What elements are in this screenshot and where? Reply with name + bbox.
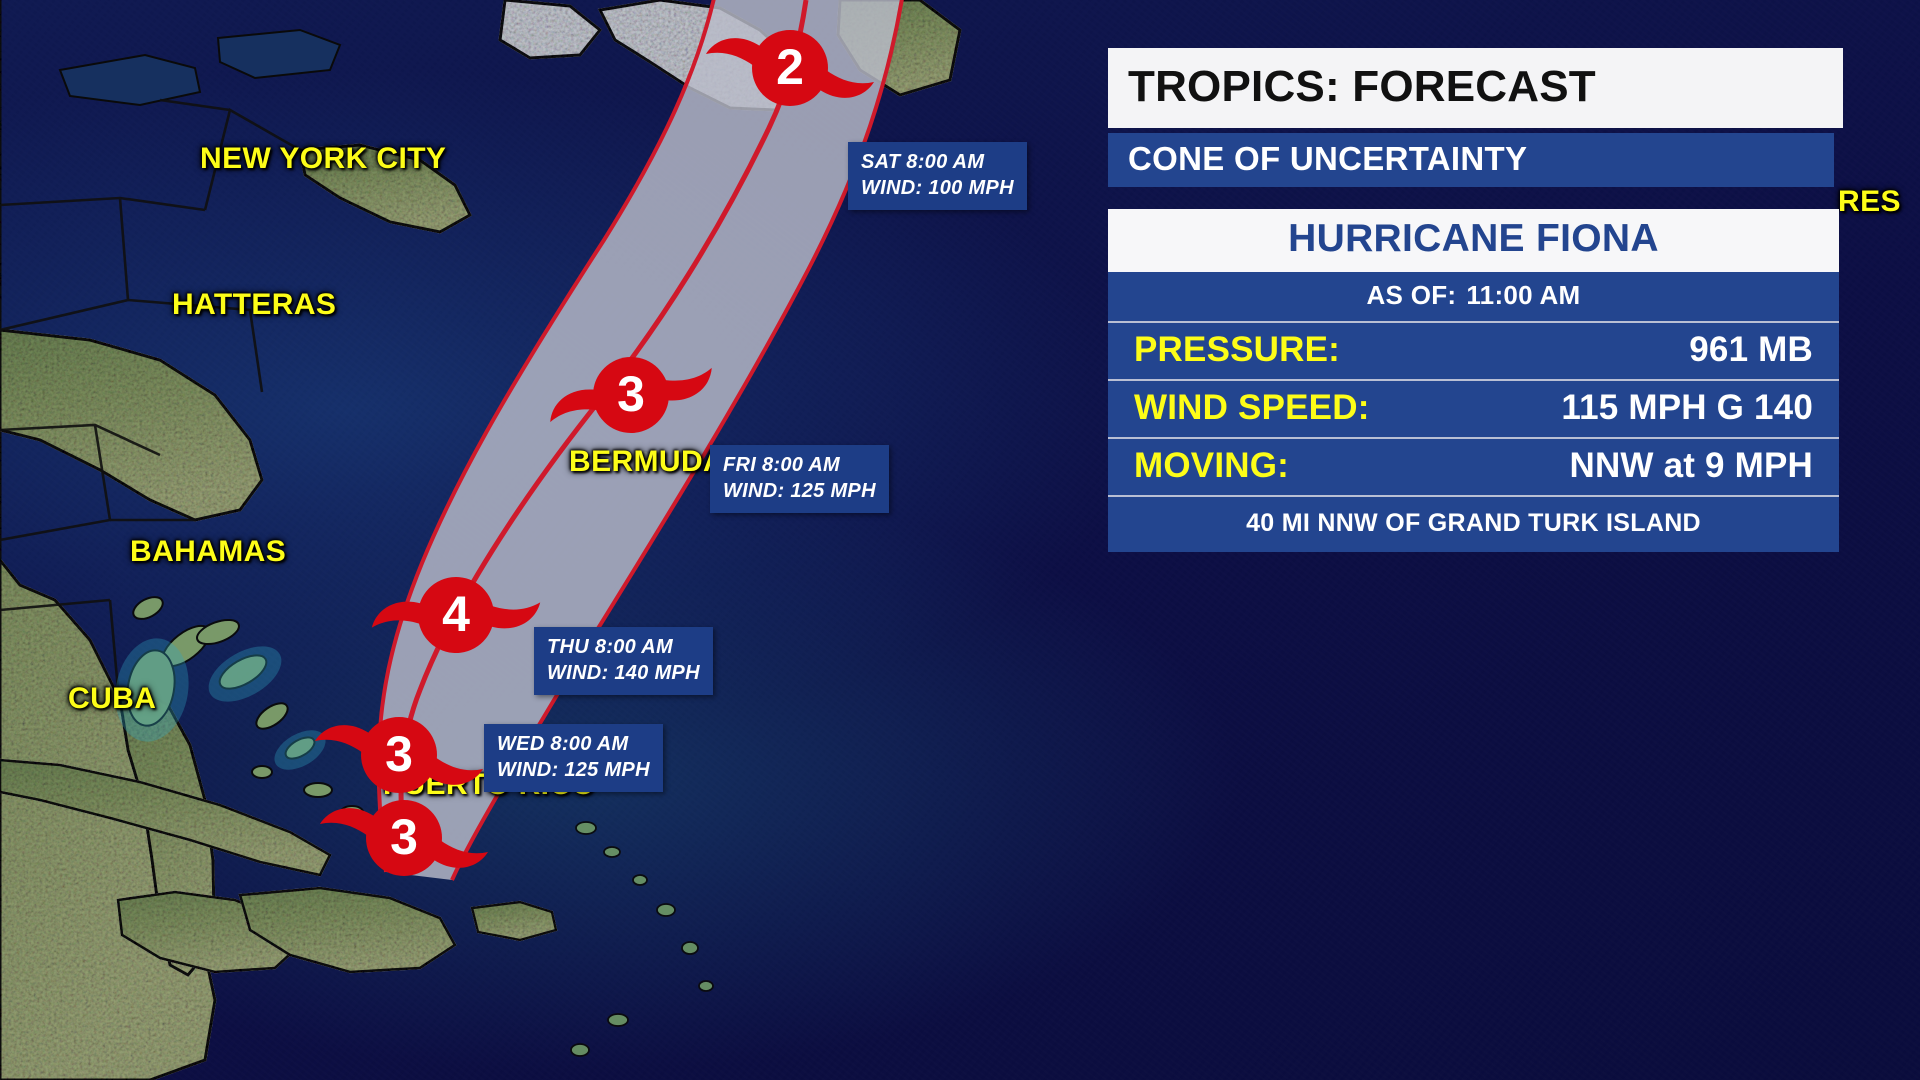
callout-thu: THU 8:00 AM WIND: 140 MPH xyxy=(534,627,713,695)
wind-speed-row: WIND SPEED: 115 MPH G 140 xyxy=(1108,379,1839,437)
callout-fri: FRI 8:00 AM WIND: 125 MPH xyxy=(710,445,889,513)
storm-name: HURRICANE FIONA xyxy=(1108,209,1839,272)
marker-cat3-fri-label: 3 xyxy=(617,366,645,422)
callout-sat-wind: WIND: 100 MPH xyxy=(861,175,1014,201)
callout-wed-wind: WIND: 125 MPH xyxy=(497,757,650,783)
callout-fri-wind: WIND: 125 MPH xyxy=(723,478,876,504)
marker-cat3-now-label: 3 xyxy=(390,809,418,865)
marker-cat3-fri: 3 xyxy=(539,322,723,468)
pressure-row: PRESSURE: 961 MB xyxy=(1108,321,1839,379)
panel-subtitle: CONE OF UNCERTAINTY xyxy=(1108,133,1834,187)
callout-wed-day: WED 8:00 AM xyxy=(497,731,650,757)
as-of-row: AS OF: 11:00 AM xyxy=(1108,272,1839,321)
relative-location-row: 40 MI NNW OF GRAND TURK ISLAND xyxy=(1108,495,1839,552)
callout-sat-day: SAT 8:00 AM xyxy=(861,149,1014,175)
marker-cat2-sat-label: 2 xyxy=(776,39,804,95)
marker-cat2-sat: 2 xyxy=(706,30,874,106)
marker-cat3-wed: 3 xyxy=(315,717,483,793)
as-of-label: AS OF: xyxy=(1366,280,1456,311)
marker-cat3-wed-label: 3 xyxy=(385,726,413,782)
as-of-value: 11:00 AM xyxy=(1466,280,1580,311)
forecast-info-panel: TROPICS: FORECAST CONE OF UNCERTAINTY HU… xyxy=(1108,48,1843,552)
callout-thu-day: THU 8:00 AM xyxy=(547,634,700,660)
marker-cat4-thu: 4 xyxy=(364,553,547,677)
storm-stats-card: HURRICANE FIONA AS OF: 11:00 AM PRESSURE… xyxy=(1108,209,1839,552)
moving-value: NNW at 9 MPH xyxy=(1569,446,1813,486)
marker-cat4-thu-label: 4 xyxy=(442,586,470,642)
wind-speed-label: WIND SPEED: xyxy=(1134,388,1370,428)
marker-cat3-now: 3 xyxy=(320,800,488,876)
callout-thu-wind: WIND: 140 MPH xyxy=(547,660,700,686)
moving-label: MOVING: xyxy=(1134,446,1289,486)
panel-title: TROPICS: FORECAST xyxy=(1108,48,1843,128)
moving-row: MOVING: NNW at 9 MPH xyxy=(1108,437,1839,495)
wind-speed-value: 115 MPH G 140 xyxy=(1561,388,1813,428)
callout-wed: WED 8:00 AM WIND: 125 MPH xyxy=(484,724,663,792)
pressure-value: 961 MB xyxy=(1689,330,1813,370)
callout-sat: SAT 8:00 AM WIND: 100 MPH xyxy=(848,142,1027,210)
callout-fri-day: FRI 8:00 AM xyxy=(723,452,876,478)
pressure-label: PRESSURE: xyxy=(1134,330,1340,370)
